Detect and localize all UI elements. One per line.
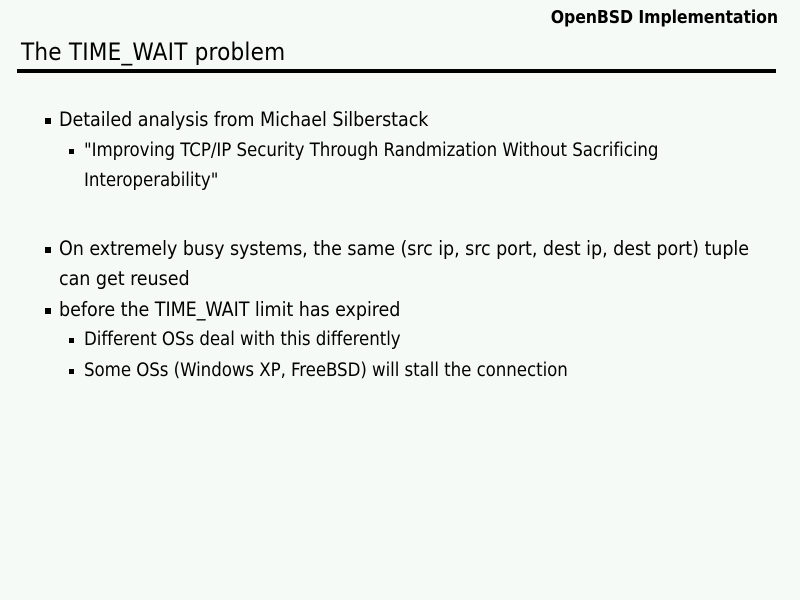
- square-bullet-icon: [45, 118, 51, 124]
- bullet-group-spacer: [0, 197, 800, 234]
- bullet-item: On extremely busy systems, the same (src…: [45, 234, 759, 295]
- bullet-item: "Improving TCP/IP Security Through Randm…: [69, 136, 709, 197]
- slide-body: Detailed analysis from Michael Silbersta…: [0, 105, 800, 386]
- bullet-group: Detailed analysis from Michael Silbersta…: [0, 105, 800, 197]
- square-bullet-icon: [69, 149, 74, 154]
- bullet-item: Different OSs deal with this differently: [69, 325, 709, 356]
- bullet-label: before the TIME_WAIT limit has expired: [59, 295, 759, 326]
- slide-title: The TIME_WAIT problem: [21, 40, 285, 65]
- title-divider-rule: [17, 69, 776, 73]
- slide-header-label: OpenBSD Implementation: [551, 8, 778, 28]
- square-bullet-icon: [45, 308, 51, 314]
- bullet-group: On extremely busy systems, the same (src…: [0, 234, 800, 387]
- square-bullet-icon: [69, 369, 74, 374]
- bullet-item: before the TIME_WAIT limit has expired: [45, 295, 759, 326]
- bullet-label: Different OSs deal with this differently: [84, 325, 709, 356]
- bullet-label: "Improving TCP/IP Security Through Randm…: [84, 136, 709, 197]
- bullet-label: Some OSs (Windows XP, FreeBSD) will stal…: [84, 356, 709, 387]
- square-bullet-icon: [45, 247, 51, 253]
- bullet-label: Detailed analysis from Michael Silbersta…: [59, 105, 759, 136]
- presentation-slide: OpenBSD Implementation The TIME_WAIT pro…: [0, 0, 800, 600]
- square-bullet-icon: [69, 338, 74, 343]
- bullet-item: Some OSs (Windows XP, FreeBSD) will stal…: [69, 356, 709, 387]
- bullet-item: Detailed analysis from Michael Silbersta…: [45, 105, 759, 136]
- bullet-label: On extremely busy systems, the same (src…: [59, 234, 759, 295]
